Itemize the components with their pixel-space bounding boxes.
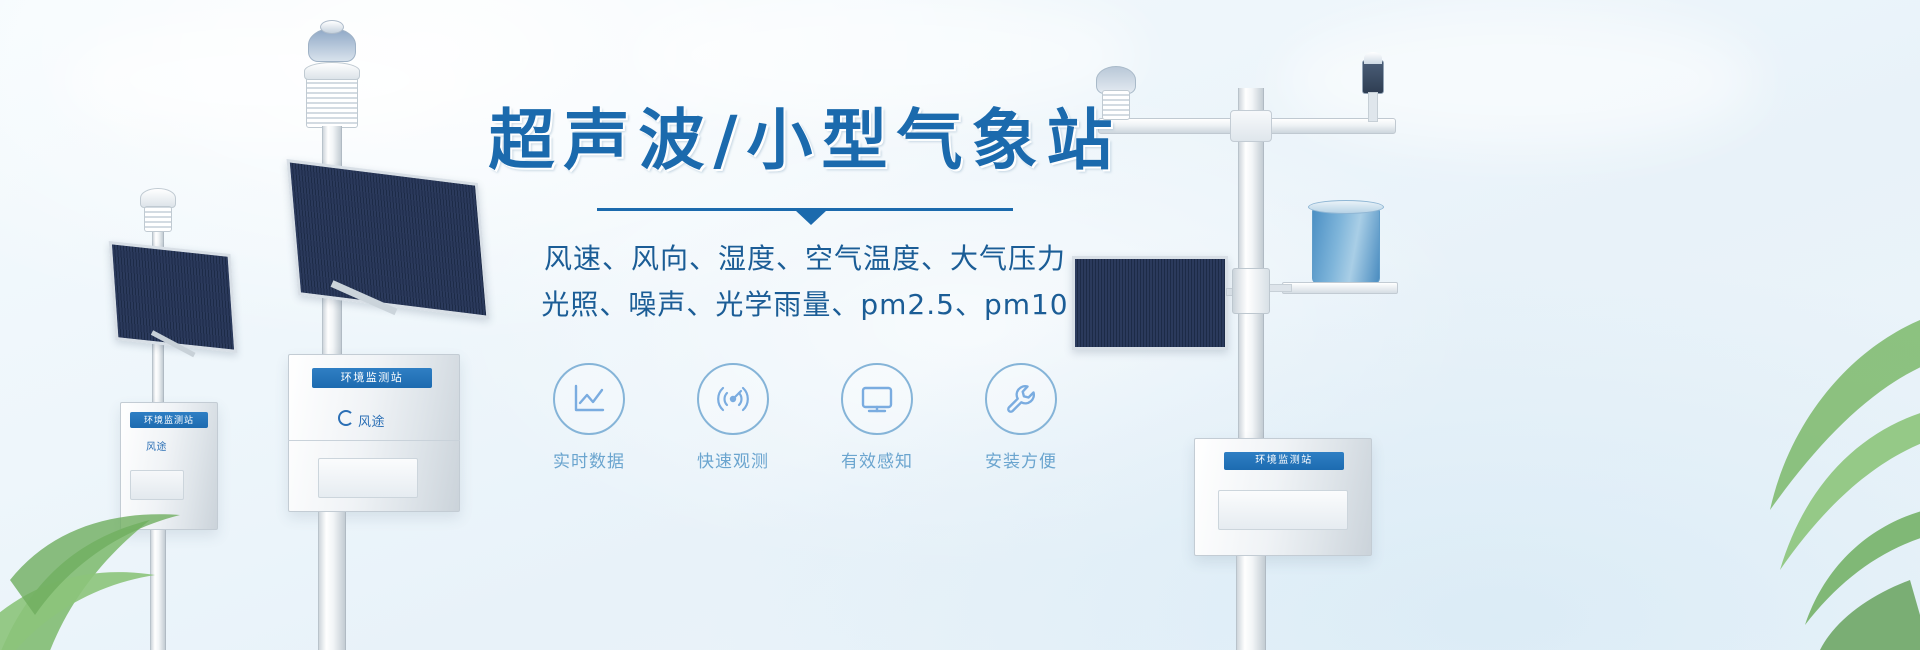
mast-collar (1232, 268, 1270, 314)
subtitle-line-1: 风速、风向、湿度、空气温度、大气压力 (435, 236, 1175, 282)
feature-label: 有效感知 (834, 447, 920, 472)
solar-panel (109, 241, 238, 353)
title-divider (597, 204, 1013, 220)
feature-list: 实时数据 快速观测 (435, 363, 1175, 472)
base-pole (1236, 556, 1266, 650)
line-chart-icon (553, 363, 625, 435)
cabinet-brand: 风途 (146, 438, 167, 453)
rain-gauge-shelf (1282, 282, 1398, 294)
feature-label: 安装方便 (978, 447, 1064, 472)
brand-logo-icon (338, 410, 354, 426)
banner-content: 超声波/小型气象站 风速、风向、湿度、空气温度、大气压力 光照、噪声、光学雨量、… (435, 105, 1175, 472)
rain-gauge (1312, 206, 1380, 284)
base-pole (150, 530, 166, 650)
shield-cap (304, 62, 360, 80)
cabinet-label: 环境监测站 (1224, 452, 1344, 470)
feature-item-easy-install[interactable]: 安装方便 (978, 363, 1064, 472)
leaf-decoration-right (1620, 280, 1920, 650)
cabinet-label: 环境监测站 (130, 412, 208, 428)
feature-item-effective-sensing[interactable]: 有效感知 (834, 363, 920, 472)
rain-gauge-rim (1308, 200, 1384, 214)
sensor-transducer-top (320, 20, 344, 34)
triangle-down-icon (795, 210, 827, 225)
radiation-shield (144, 206, 172, 232)
monitor-icon (841, 363, 913, 435)
cabinet-vent (318, 458, 418, 498)
base-pole (318, 512, 346, 650)
cabinet-brand: 风途 (358, 411, 385, 430)
radiation-shield (306, 76, 358, 128)
ultrasonic-sensor-head (140, 188, 176, 208)
light-sensor (1362, 60, 1384, 94)
cross-arm-clamp (1230, 110, 1272, 142)
feature-item-realtime-data[interactable]: 实时数据 (546, 363, 632, 472)
light-sensor-dome (1364, 52, 1382, 64)
cabinet-vent (1218, 490, 1348, 530)
wrench-icon (985, 363, 1057, 435)
feature-label: 实时数据 (546, 447, 632, 472)
sensor-arm-mount (1368, 92, 1378, 122)
cabinet-vent (130, 470, 184, 500)
feature-item-fast-observation[interactable]: 快速观测 (690, 363, 776, 472)
product-banner: 环境监测站 风途 环境监测站 风途 (0, 0, 1920, 650)
page-title: 超声波/小型气象站 (435, 105, 1175, 176)
cabinet-label: 环境监测站 (312, 368, 432, 388)
subtitle-line-2: 光照、噪声、光学雨量、pm2.5、pm10 (435, 282, 1175, 328)
weather-station-small-left: 环境监测站 风途 (100, 170, 290, 650)
signal-radar-icon (697, 363, 769, 435)
feature-label: 快速观测 (690, 447, 776, 472)
